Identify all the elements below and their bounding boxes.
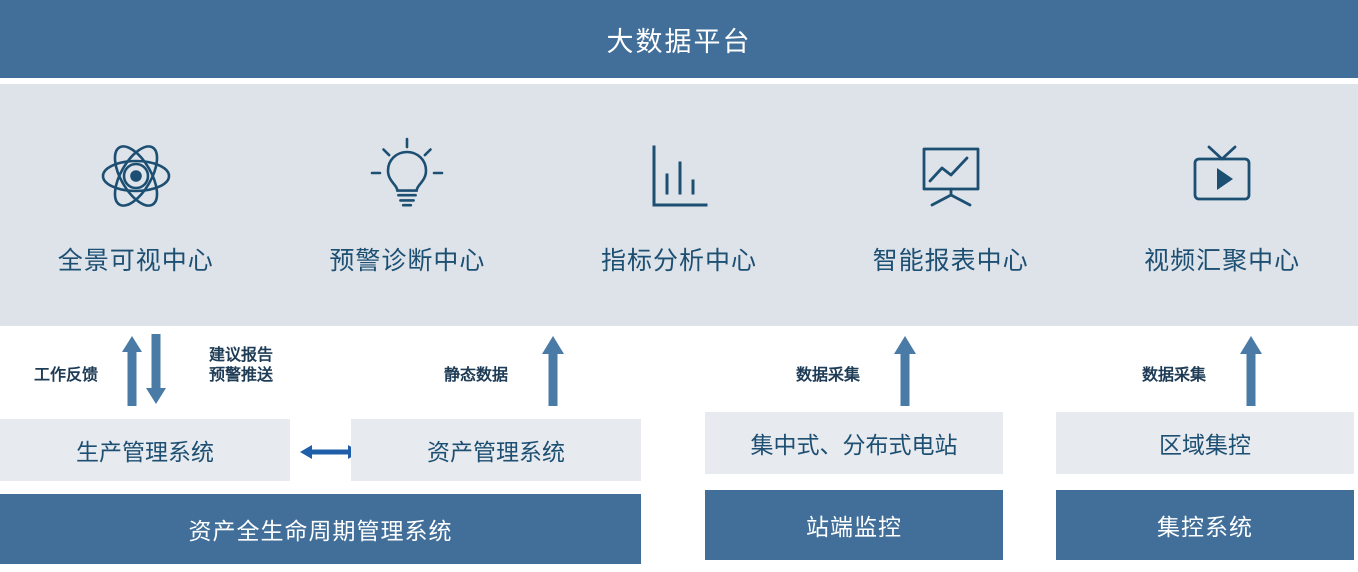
platform-panel: 全景可视中心 预警诊断中心 [0, 84, 1358, 326]
platform-card-indicator[interactable]: 指标分析中心 [564, 133, 794, 277]
atom-icon [93, 133, 179, 219]
bottom-box-lifecycle[interactable]: 资产全生命周期管理系统 [0, 494, 641, 564]
bottom-box-station-monitor[interactable]: 站端监控 [705, 490, 1003, 560]
platform-card-label: 全景可视中心 [58, 241, 214, 277]
platform-card-label: 指标分析中心 [601, 241, 757, 277]
flow-label-work-feedback: 工作反馈 [14, 366, 118, 386]
platform-card-label: 视频汇聚中心 [1144, 241, 1300, 277]
lightbulb-icon [364, 133, 450, 219]
platform-banner: 大数据平台 [0, 0, 1358, 78]
bottom-box-label: 站端监控 [806, 508, 902, 542]
flow-label-data-collect-2: 数据采集 [1122, 366, 1226, 386]
platform-card-warning[interactable]: 预警诊断中心 [292, 133, 522, 277]
flow-label-line1: 建议报告 [186, 346, 296, 366]
platform-card-report[interactable]: 智能报表中心 [836, 133, 1066, 277]
system-box-asset[interactable]: 资产管理系统 [351, 419, 641, 481]
bottom-box-control-system[interactable]: 集控系统 [1056, 490, 1354, 560]
system-box-station[interactable]: 集中式、分布式电站 [705, 412, 1003, 474]
platform-card-label: 智能报表中心 [873, 241, 1029, 277]
system-box-label: 集中式、分布式电站 [751, 426, 958, 460]
platform-card-label: 预警诊断中心 [329, 241, 485, 277]
up-arrow-icon [890, 334, 920, 406]
presentation-chart-icon [908, 133, 994, 219]
up-arrow-icon [1236, 334, 1266, 406]
flow-label-data-collect-1: 数据采集 [776, 366, 880, 386]
system-box-production[interactable]: 生产管理系统 [0, 419, 290, 481]
system-box-label: 生产管理系统 [76, 433, 214, 467]
flow-label-report-push: 建议报告 预警推送 [186, 346, 296, 386]
page-title: 大数据平台 [607, 20, 752, 59]
flow-band: 工作反馈 建议报告 预警推送 静态数据 数据采集 数据采集 [0, 326, 1358, 412]
bar-chart-icon [636, 133, 722, 219]
system-box-regional[interactable]: 区域集控 [1056, 412, 1354, 474]
bottom-box-label: 集控系统 [1157, 508, 1253, 542]
diagram-root: 大数据平台 全景可视中心 [0, 0, 1358, 572]
system-box-label: 资产管理系统 [427, 433, 565, 467]
video-play-icon [1179, 133, 1265, 219]
bottom-box-label: 资产全生命周期管理系统 [189, 512, 453, 546]
flow-label-line2: 预警推送 [186, 366, 296, 386]
platform-card-video[interactable]: 视频汇聚中心 [1107, 133, 1337, 277]
bidirectional-arrow-icon [120, 334, 174, 406]
flow-label-static-data: 静态数据 [424, 366, 528, 386]
up-arrow-icon [538, 334, 568, 406]
platform-card-panorama[interactable]: 全景可视中心 [21, 133, 251, 277]
system-box-label: 区域集控 [1159, 426, 1251, 460]
